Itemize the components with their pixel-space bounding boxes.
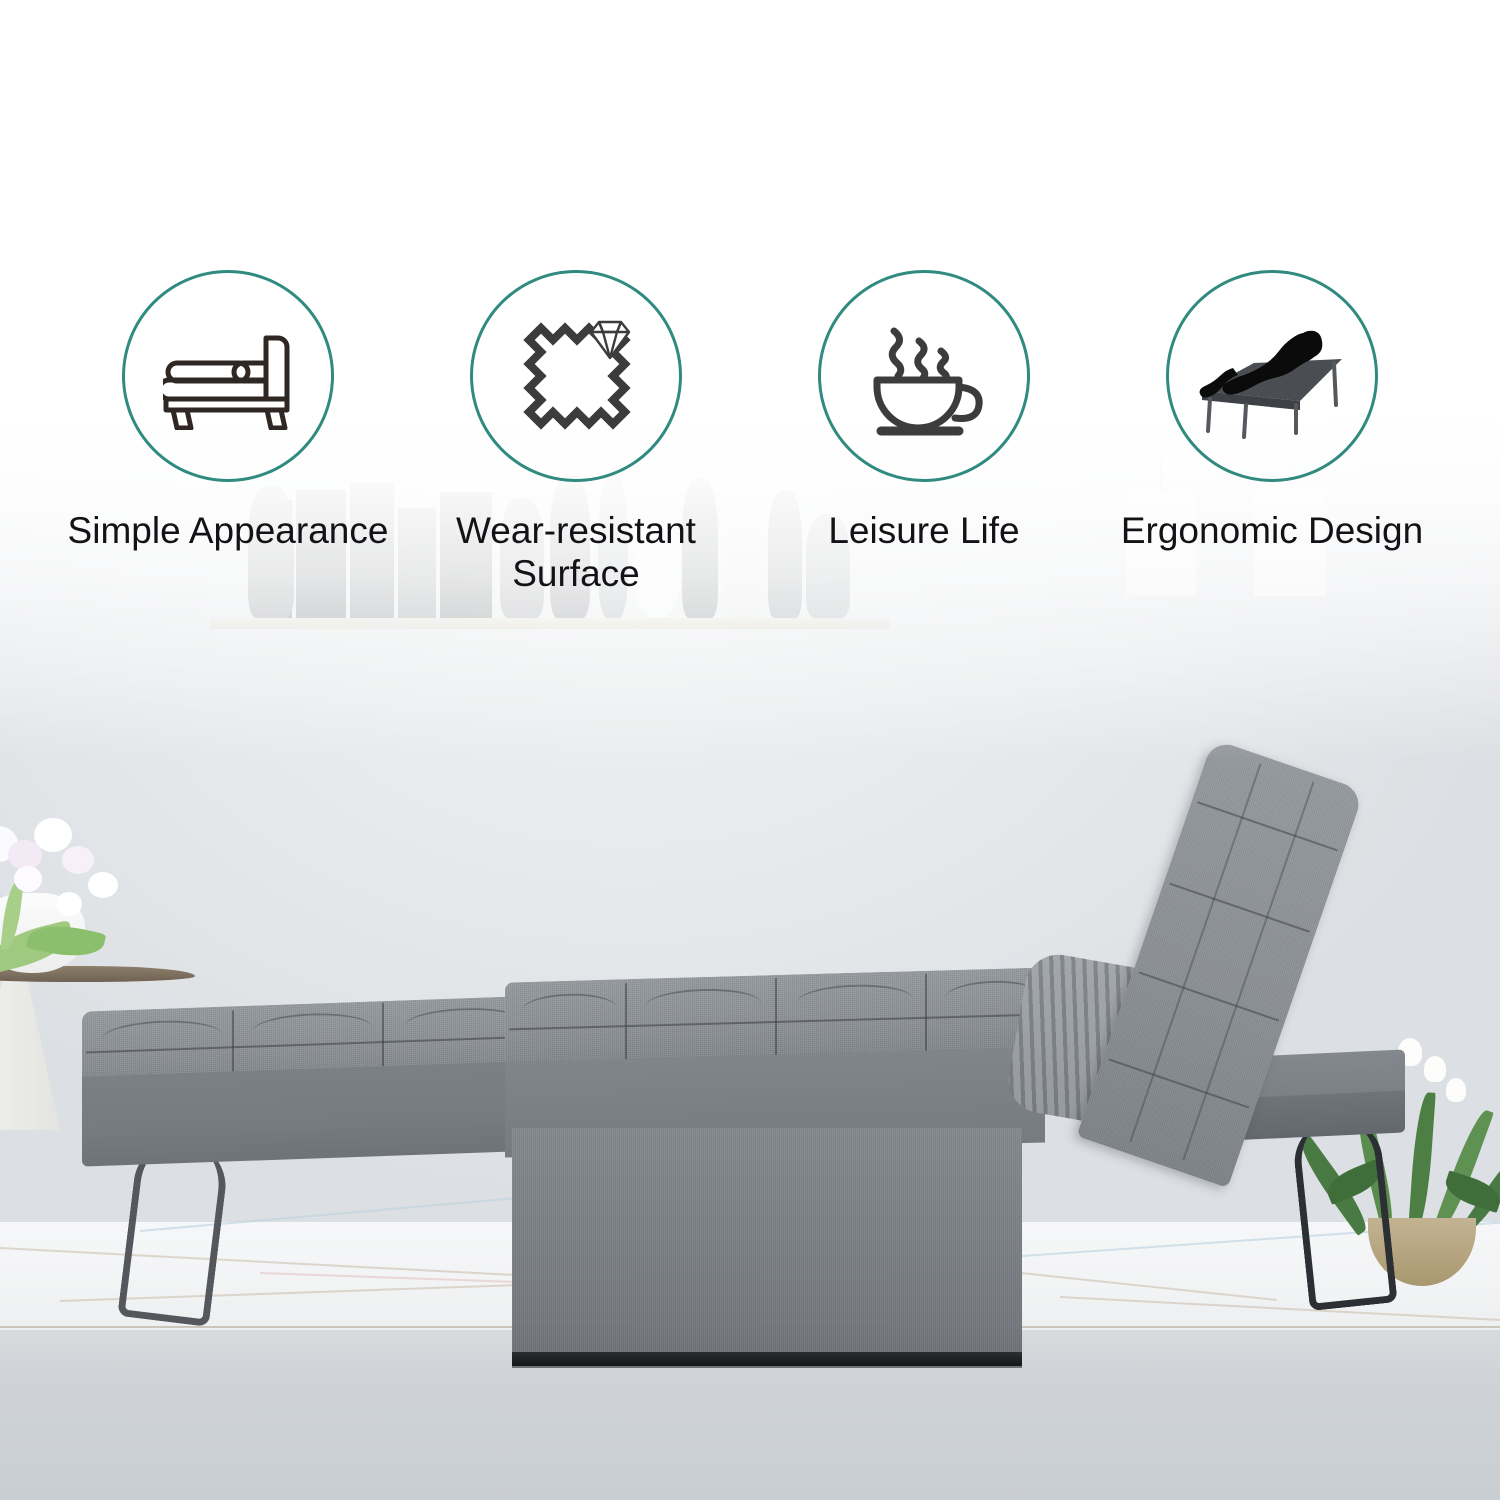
bed-icon	[163, 322, 293, 430]
fabric-diamond-icon	[511, 314, 641, 438]
feature-item-simple-appearance: Simple Appearance	[54, 270, 402, 553]
feature-icon-ring	[1166, 270, 1378, 482]
sofa-skirt-shadow	[512, 1352, 1022, 1366]
feature-item-ergonomic-design: Ergonomic Design	[1098, 270, 1446, 553]
feature-item-leisure-life: Leisure Life	[750, 270, 1098, 553]
feature-item-wear-resistant-surface: Wear-resistant Surface	[402, 270, 750, 596]
coffee-cup-icon	[861, 313, 987, 439]
sofa-leg	[1290, 1114, 1397, 1311]
feature-icon-ring	[122, 270, 334, 482]
feature-list: Simple Appearance	[0, 270, 1500, 630]
feature-label: Wear-resistant Surface	[411, 510, 741, 596]
product-feature-banner: Foldable Design for Multiple Uses	[0, 0, 1500, 1500]
room-scene-photo	[0, 0, 1500, 1500]
sofa-fabric-skirt	[512, 1128, 1022, 1368]
feature-label: Ergonomic Design	[1121, 510, 1423, 553]
feature-icon-ring	[470, 270, 682, 482]
feature-label: Simple Appearance	[68, 510, 389, 553]
feature-icon-ring	[818, 270, 1030, 482]
reclining-person-lounger-icon	[1196, 313, 1348, 439]
feature-label: Leisure Life	[828, 510, 1019, 553]
